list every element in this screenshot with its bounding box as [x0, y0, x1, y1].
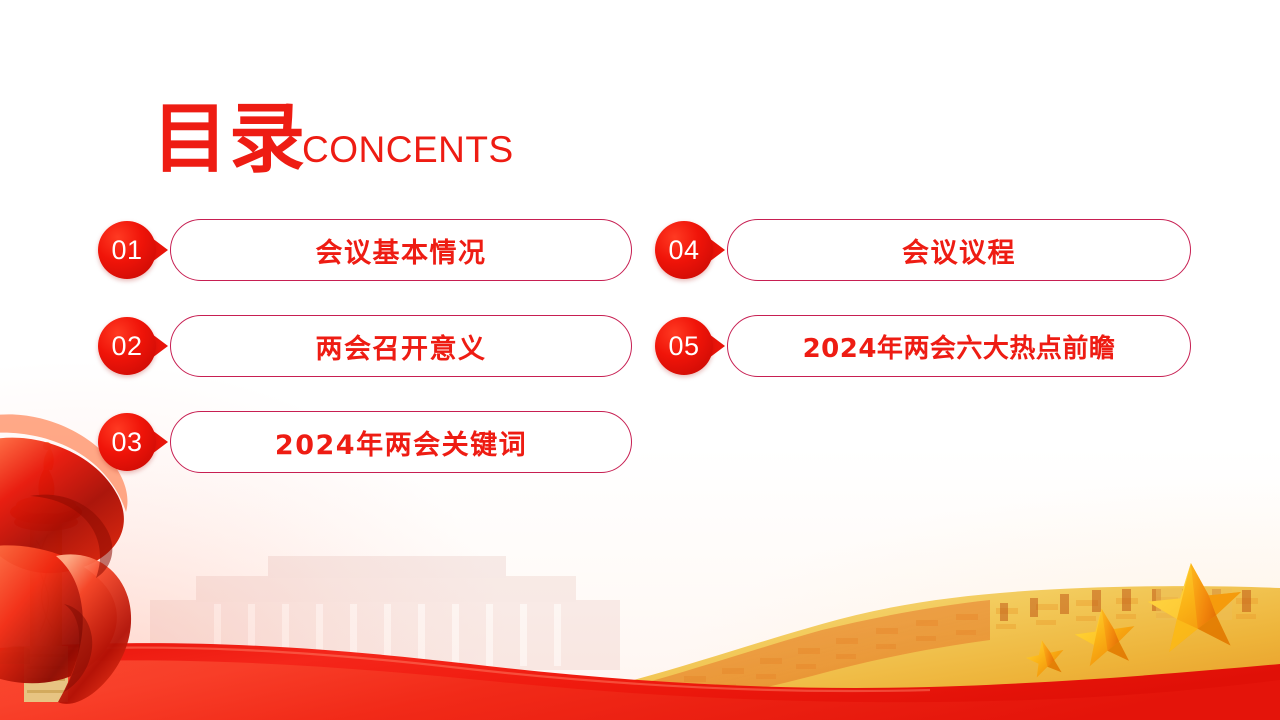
badge-wrap-03: 03 [98, 411, 168, 473]
contents-pill-02[interactable]: 两会召开意义 [170, 315, 632, 377]
slide-canvas: 目录 CONCENTS 01 会议基本情况 02 [0, 0, 1280, 720]
badge-number-label: 04 [668, 237, 699, 264]
contents-item-02[interactable]: 02 两会召开意义 [98, 315, 632, 377]
contents-item-01[interactable]: 01 会议基本情况 [98, 219, 632, 281]
contents-item-03[interactable]: 03 2024年两会关键词 [98, 411, 632, 473]
badge-number-label: 01 [111, 237, 142, 264]
badge-wrap-05: 05 [655, 315, 725, 377]
contents-pill-03[interactable]: 2024年两会关键词 [170, 411, 632, 473]
golden-great-wall [520, 586, 1280, 720]
badge-wrap-01: 01 [98, 219, 168, 281]
badge-number-label: 03 [111, 429, 142, 456]
contents-pill-05[interactable]: 2024年两会六大热点前瞻 [727, 315, 1191, 377]
contents-pill-04[interactable]: 会议议程 [727, 219, 1191, 281]
gold-star-large [1144, 558, 1246, 654]
contents-item-label: 2024年两会关键词 [275, 423, 527, 462]
badge-number-label: 05 [668, 333, 699, 360]
number-badge-05[interactable]: 05 [655, 317, 713, 375]
number-badge-02[interactable]: 02 [98, 317, 156, 375]
number-badge-03[interactable]: 03 [98, 413, 156, 471]
contents-list: 01 会议基本情况 02 两会召开意义 [0, 219, 1280, 499]
great-hall-silhouette [150, 556, 620, 670]
contents-item-label: 会议议程 [902, 231, 1016, 270]
title-english: CONCENTS [302, 131, 514, 168]
contents-pill-01[interactable]: 会议基本情况 [170, 219, 632, 281]
gold-star-medium [1072, 604, 1139, 667]
badge-wrap-04: 04 [655, 219, 725, 281]
badge-wrap-02: 02 [98, 315, 168, 377]
contents-item-label: 两会召开意义 [316, 327, 487, 366]
contents-item-04[interactable]: 04 会议议程 [655, 219, 1191, 281]
page-title: 目录 CONCENTS [152, 104, 514, 174]
gold-star-small [1023, 636, 1068, 679]
red-wave-band [0, 643, 1280, 720]
contents-item-05[interactable]: 05 2024年两会六大热点前瞻 [655, 315, 1191, 377]
title-chinese: 目录 [152, 104, 306, 174]
number-badge-01[interactable]: 01 [98, 221, 156, 279]
badge-number-label: 02 [111, 333, 142, 360]
contents-item-label: 2024年两会六大热点前瞻 [803, 328, 1116, 365]
number-badge-04[interactable]: 04 [655, 221, 713, 279]
contents-item-label: 会议基本情况 [316, 231, 487, 270]
